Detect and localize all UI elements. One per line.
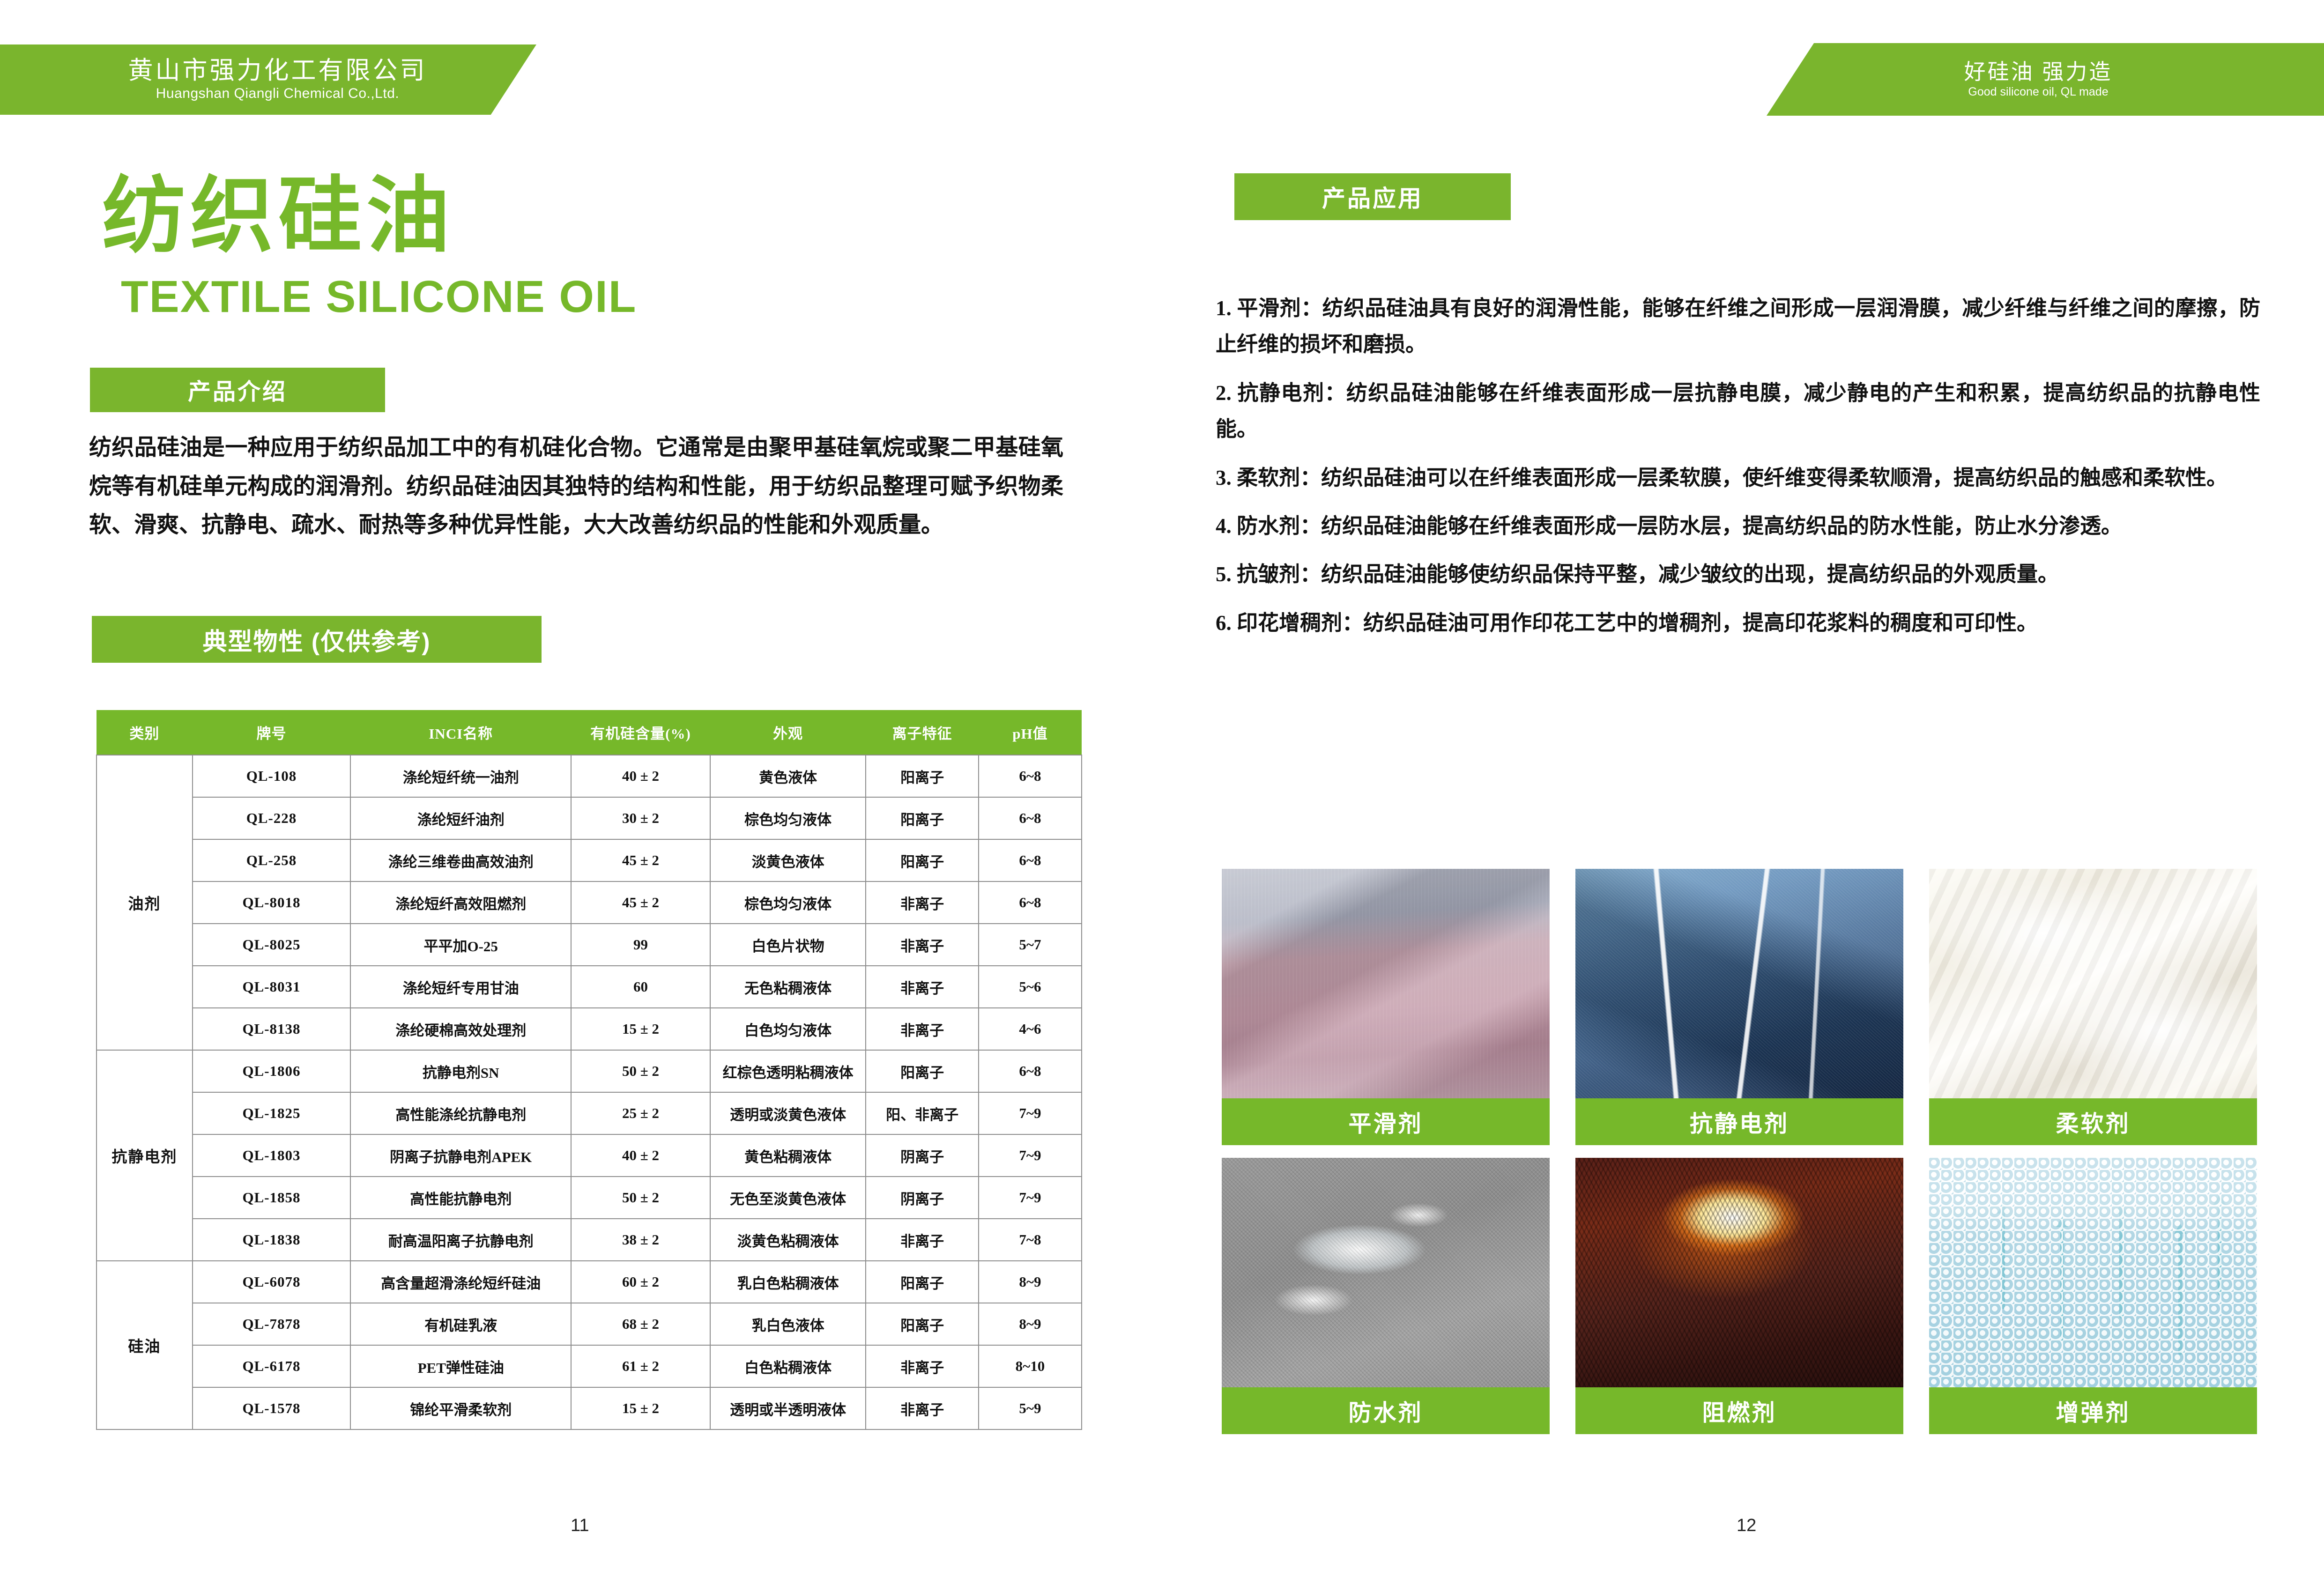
table-cell-ion: 阴离子 [866,1177,978,1219]
blue-fabric-lightning-photo [1575,869,1903,1098]
table-cell-ion: 非离子 [866,1387,978,1429]
table-cell-brand: QL-8018 [193,881,351,924]
table-cell-inci: PET弹性硅油 [350,1345,571,1387]
table-cell-inci: 锦纶平滑柔软剂 [350,1387,571,1429]
application-list: 1. 平滑剂：纺织品硅油具有良好的润滑性能，能够在纤维之间形成一层润滑膜，减少纤… [1216,290,2260,653]
left-page: 纺织硅油 TEXTILE SILICONE OIL 产品介绍 纺织品硅油是一种应… [0,0,1162,1577]
table-row: QL-1838耐高温阳离子抗静电剂38 ± 2淡黄色粘稠液体非离子7~8 [97,1219,1082,1261]
table-cell-ph: 8~9 [979,1303,1082,1345]
table-cell-ion: 阳离子 [866,839,978,881]
elastic-fiber-arrows-illustration [1929,1158,2257,1387]
table-cell-inci: 高性能抗静电剂 [350,1177,571,1219]
product-intro-text: 纺织品硅油是一种应用于纺织品加工中的有机硅化合物。它通常是由聚甲基硅氧烷或聚二甲… [89,429,1063,545]
table-cell-content: 45 ± 2 [571,839,710,881]
typical-properties-table: 类别 牌号 INCI名称 有机硅含量(%) 外观 离子特征 pH值 油剂QL-1… [96,710,1082,1430]
table-row: QL-8018涤纶短纤高效阻燃剂45 ± 2棕色均匀液体非离子6~8 [97,881,1082,924]
table-cell-inci: 耐高温阳离子抗静电剂 [350,1219,571,1261]
table-cell-content: 15 ± 2 [571,1008,710,1050]
gallery-caption: 防水剂 [1222,1387,1550,1434]
table-cell-inci: 高含量超滑涤纶短纤硅油 [350,1261,571,1303]
table-cell-ph: 6~8 [979,755,1082,797]
table-cell-brand: QL-8025 [193,924,351,966]
table-cell-ph: 4~6 [979,1008,1082,1050]
table-cell-inci: 涤纶三维卷曲高效油剂 [350,839,571,881]
table-cell-content: 45 ± 2 [571,881,710,924]
table-cell-ion: 非离子 [866,1008,978,1050]
table-cell-ion: 非离子 [866,966,978,1008]
table-cell-appearance: 棕色均匀液体 [710,881,866,924]
table-cell-appearance: 黄色液体 [710,755,866,797]
table-cell-ph: 7~9 [979,1177,1082,1219]
table-cell-ph: 7~8 [979,1219,1082,1261]
table-cell-inci: 高性能涤纶抗静电剂 [350,1092,571,1134]
th-category: 类别 [97,710,193,755]
table-cell-appearance: 透明或半透明液体 [710,1387,866,1429]
table-cell-appearance: 乳白色液体 [710,1303,866,1345]
table-cell-ph: 6~8 [979,839,1082,881]
table-cell-brand: QL-1803 [193,1134,351,1177]
table-header-row: 类别 牌号 INCI名称 有机硅含量(%) 外观 离子特征 pH值 [97,710,1082,755]
table-cell-ph: 6~8 [979,1050,1082,1092]
table-cell-appearance: 无色粘稠液体 [710,966,866,1008]
table-cell-ph: 8~9 [979,1261,1082,1303]
gallery-caption: 柔软剂 [1929,1098,2257,1145]
table-cell-content: 40 ± 2 [571,755,710,797]
table-cell-brand: QL-8031 [193,966,351,1008]
table-cell-ion: 阳离子 [866,755,978,797]
table-cell-brand: QL-6178 [193,1345,351,1387]
table-cell-appearance: 乳白色粘稠液体 [710,1261,866,1303]
application-item: 4. 防水剂：纺织品硅油能够在纤维表面形成一层防水层，提高纺织品的防水性能，防止… [1216,508,2260,544]
table-row: QL-7878有机硅乳液68 ± 2乳白色液体阳离子8~9 [97,1303,1082,1345]
table-row: 抗静电剂QL-1806抗静电剂SN50 ± 2红棕色透明粘稠液体阳离子6~8 [97,1050,1082,1092]
table-cell-appearance: 棕色均匀液体 [710,797,866,839]
table-cell-ion: 阳离子 [866,797,978,839]
table-cell-brand: QL-108 [193,755,351,797]
table-cell-brand: QL-1838 [193,1219,351,1261]
table-cell-ph: 6~8 [979,797,1082,839]
table-row: QL-1858高性能抗静电剂50 ± 2无色至淡黄色液体阴离子7~9 [97,1177,1082,1219]
table-cell-ph: 5~7 [979,924,1082,966]
table-cell-ion: 阳、非离子 [866,1092,978,1134]
th-appearance: 外观 [710,710,866,755]
table-cell-brand: QL-8138 [193,1008,351,1050]
table-cell-ion: 阳离子 [866,1261,978,1303]
table-cell-content: 99 [571,924,710,966]
gallery-card[interactable]: 抗静电剂 [1575,869,1903,1145]
table-cell-brand: QL-1825 [193,1092,351,1134]
table-cell-appearance: 透明或淡黄色液体 [710,1092,866,1134]
table-row: QL-1803阴离子抗静电剂APEK40 ± 2黄色粘稠液体阴离子7~9 [97,1134,1082,1177]
application-gallery: 平滑剂抗静电剂柔软剂防水剂阻燃剂增弹剂 [1222,869,2257,1434]
table-cell-content: 50 ± 2 [571,1050,710,1092]
section-tag-product-intro: 产品介绍 [90,368,385,412]
application-item: 6. 印花增稠剂：纺织品硅油可用作印花工艺中的增稠剂，提高印花浆料的稠度和可印性… [1216,605,2260,641]
table-cell-ph: 6~8 [979,881,1082,924]
brochure-spread: 黄山市强力化工有限公司 Huangshan Qiangli Chemical C… [0,0,2324,1577]
table-cell-inci: 涤纶短纤统一油剂 [350,755,571,797]
table-cell-category: 抗静电剂 [97,1050,193,1261]
flame-on-mesh-fabric-photo [1575,1158,1903,1387]
table-row: QL-1578锦纶平滑柔软剂15 ± 2透明或半透明液体非离子5~9 [97,1387,1082,1429]
table-cell-ion: 非离子 [866,881,978,924]
table-cell-appearance: 淡黄色液体 [710,839,866,881]
table-cell-inci: 涤纶短纤高效阻燃剂 [350,881,571,924]
table-cell-content: 50 ± 2 [571,1177,710,1219]
upward-arrow-icon [2178,1231,2182,1355]
table-row: QL-6178PET弹性硅油61 ± 2白色粘稠液体非离子8~10 [97,1345,1082,1387]
page-number-right: 12 [1737,1516,1756,1536]
table-cell-content: 38 ± 2 [571,1219,710,1261]
table-cell-content: 68 ± 2 [571,1303,710,1345]
table-cell-appearance: 淡黄色粘稠液体 [710,1219,866,1261]
table-cell-content: 61 ± 2 [571,1345,710,1387]
table-row: QL-1825高性能涤纶抗静电剂25 ± 2透明或淡黄色液体阳、非离子7~9 [97,1092,1082,1134]
application-item: 3. 柔软剂：纺织品硅油可以在纤维表面形成一层柔软膜，使纤维变得柔软顺滑，提高纺… [1216,460,2260,496]
table-cell-inci: 有机硅乳液 [350,1303,571,1345]
table-cell-ion: 非离子 [866,1219,978,1261]
gallery-card[interactable]: 增弹剂 [1929,1158,2257,1434]
th-content: 有机硅含量(%) [571,710,710,755]
table-cell-ion: 阳离子 [866,1303,978,1345]
gallery-card[interactable]: 柔软剂 [1929,869,2257,1145]
upward-arrow-icon [2119,1211,2123,1318]
table-cell-appearance: 白色均匀液体 [710,1008,866,1050]
application-item: 1. 平滑剂：纺织品硅油具有良好的润滑性能，能够在纤维之间形成一层润滑膜，减少纤… [1216,290,2260,363]
table-cell-ph: 7~9 [979,1092,1082,1134]
table-cell-inci: 涤纶硬棉高效处理剂 [350,1008,571,1050]
table-cell-ion: 非离子 [866,924,978,966]
water-droplets-on-fabric-photo [1222,1158,1550,1387]
gallery-caption: 抗静电剂 [1575,1098,1903,1145]
table-cell-appearance: 白色粘稠液体 [710,1345,866,1387]
table-cell-appearance: 黄色粘稠液体 [710,1134,866,1177]
gallery-card[interactable]: 平滑剂 [1222,869,1550,1145]
table-body: 油剂QL-108涤纶短纤统一油剂40 ± 2黄色液体阳离子6~8QL-228涤纶… [97,755,1082,1429]
table-cell-brand: QL-258 [193,839,351,881]
pink-grey-knit-fabric-photo [1222,869,1550,1098]
upward-arrow-icon [2060,1224,2064,1341]
table-cell-ph: 7~9 [979,1134,1082,1177]
table-cell-appearance: 无色至淡黄色液体 [710,1177,866,1219]
th-inci: INCI名称 [350,710,571,755]
gallery-card[interactable]: 阻燃剂 [1575,1158,1903,1434]
table-cell-ion: 阳离子 [866,1050,978,1092]
gallery-caption: 增弹剂 [1929,1387,2257,1434]
table-cell-content: 15 ± 2 [571,1387,710,1429]
table-cell-inci: 平平加O-25 [350,924,571,966]
gallery-caption: 平滑剂 [1222,1098,1550,1145]
table-row: QL-228涤纶短纤油剂30 ± 2棕色均匀液体阳离子6~8 [97,797,1082,839]
table-cell-category: 硅油 [97,1261,193,1429]
upward-arrow-icon [2001,1211,2005,1309]
table-cell-appearance: 白色片状物 [710,924,866,966]
table-cell-brand: QL-1806 [193,1050,351,1092]
table-cell-brand: QL-1858 [193,1177,351,1219]
gallery-card[interactable]: 防水剂 [1222,1158,1550,1434]
table-row: 油剂QL-108涤纶短纤统一油剂40 ± 2黄色液体阳离子6~8 [97,755,1082,797]
table-cell-inci: 涤纶短纤专用甘油 [350,966,571,1008]
th-ph: pH值 [979,710,1082,755]
table-cell-category: 油剂 [97,755,193,1050]
table-cell-inci: 阴离子抗静电剂APEK [350,1134,571,1177]
table-cell-appearance: 红棕色透明粘稠液体 [710,1050,866,1092]
section-tag-typical-properties: 典型物性 (仅供参考) [92,616,542,663]
table-cell-content: 60 ± 2 [571,1261,710,1303]
table-cell-content: 60 [571,966,710,1008]
table-cell-ph: 5~6 [979,966,1082,1008]
table-cell-inci: 涤纶短纤油剂 [350,797,571,839]
table-cell-brand: QL-7878 [193,1303,351,1345]
th-ion: 离子特征 [866,710,978,755]
table-cell-brand: QL-6078 [193,1261,351,1303]
table-row: 硅油QL-6078高含量超滑涤纶短纤硅油60 ± 2乳白色粘稠液体阳离子8~9 [97,1261,1082,1303]
table-row: QL-8138涤纶硬棉高效处理剂15 ± 2白色均匀液体非离子4~6 [97,1008,1082,1050]
section-tag-product-application: 产品应用 [1234,173,1511,220]
table-cell-content: 30 ± 2 [571,797,710,839]
page-title-cn: 纺织硅油 [102,174,454,258]
table-row: QL-8025平平加O-2599白色片状物非离子5~7 [97,924,1082,966]
application-item: 2. 抗静电剂：纺织品硅油能够在纤维表面形成一层抗静电膜，减少静电的产生和积累，… [1216,375,2260,448]
table-cell-content: 25 ± 2 [571,1092,710,1134]
table-cell-ph: 5~9 [979,1387,1082,1429]
table-row: QL-8031涤纶短纤专用甘油60无色粘稠液体非离子5~6 [97,966,1082,1008]
page-number-left: 11 [571,1516,589,1536]
upward-arrow-icon [2218,1202,2221,1296]
application-item: 5. 抗皱剂：纺织品硅油能够使纺织品保持平整，减少皱纹的出现，提高纺织品的外观质… [1216,556,2260,592]
page-title-en: TEXTILE SILICONE OIL [121,274,637,319]
table-cell-ion: 阴离子 [866,1134,978,1177]
table-cell-ph: 8~10 [979,1345,1082,1387]
th-brand: 牌号 [193,710,351,755]
table-cell-content: 40 ± 2 [571,1134,710,1177]
table-cell-brand: QL-228 [193,797,351,839]
table-cell-brand: QL-1578 [193,1387,351,1429]
table-cell-inci: 抗静电剂SN [350,1050,571,1092]
white-silk-satin-drape-photo [1929,869,2257,1098]
table-row: QL-258涤纶三维卷曲高效油剂45 ± 2淡黄色液体阳离子6~8 [97,839,1082,881]
gallery-caption: 阻燃剂 [1575,1387,1903,1434]
table-cell-ion: 非离子 [866,1345,978,1387]
